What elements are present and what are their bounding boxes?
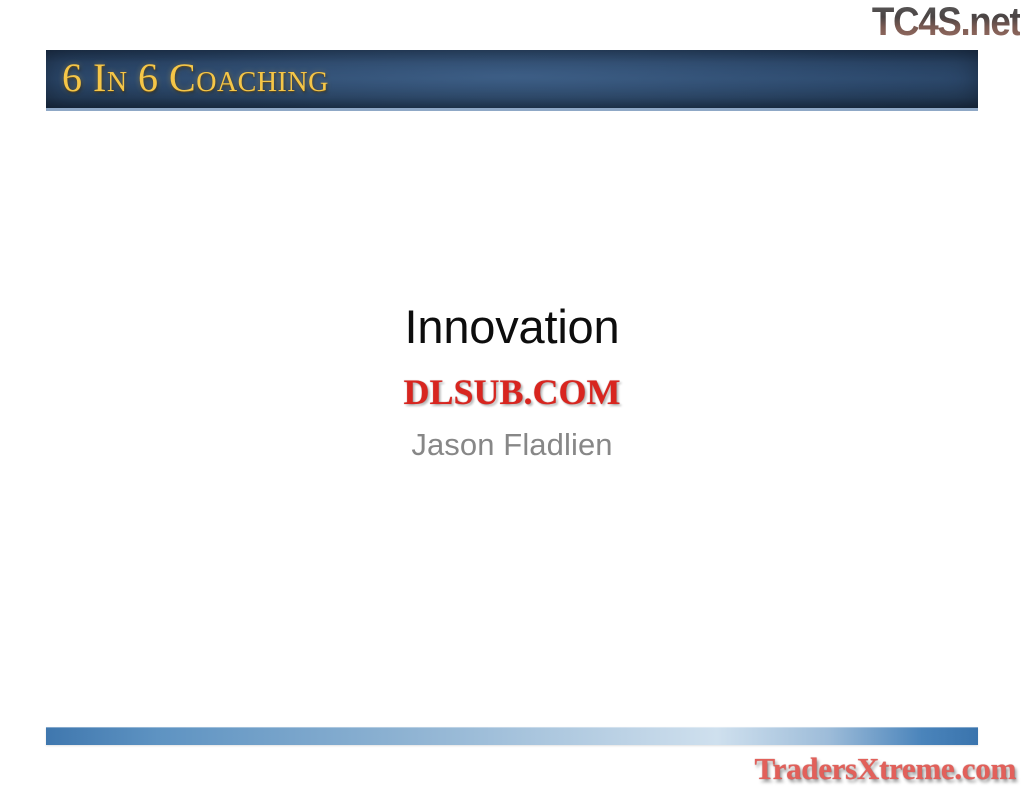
header-banner-title: 6 In 6 Coaching: [62, 56, 329, 100]
tc4s-watermark: TC4S.net: [872, 1, 1020, 43]
footer-gradient-bar: [46, 727, 978, 745]
dlsub-watermark: DLSUB.COM: [403, 372, 620, 412]
presentation-slide: TC4S.net 6 In 6 Coaching Innovation Jaso…: [0, 0, 1024, 791]
page-title: Innovation: [0, 300, 1024, 354]
tradersxtreme-watermark: TradersXtreme.com: [755, 751, 1016, 787]
header-banner: 6 In 6 Coaching: [46, 50, 978, 111]
